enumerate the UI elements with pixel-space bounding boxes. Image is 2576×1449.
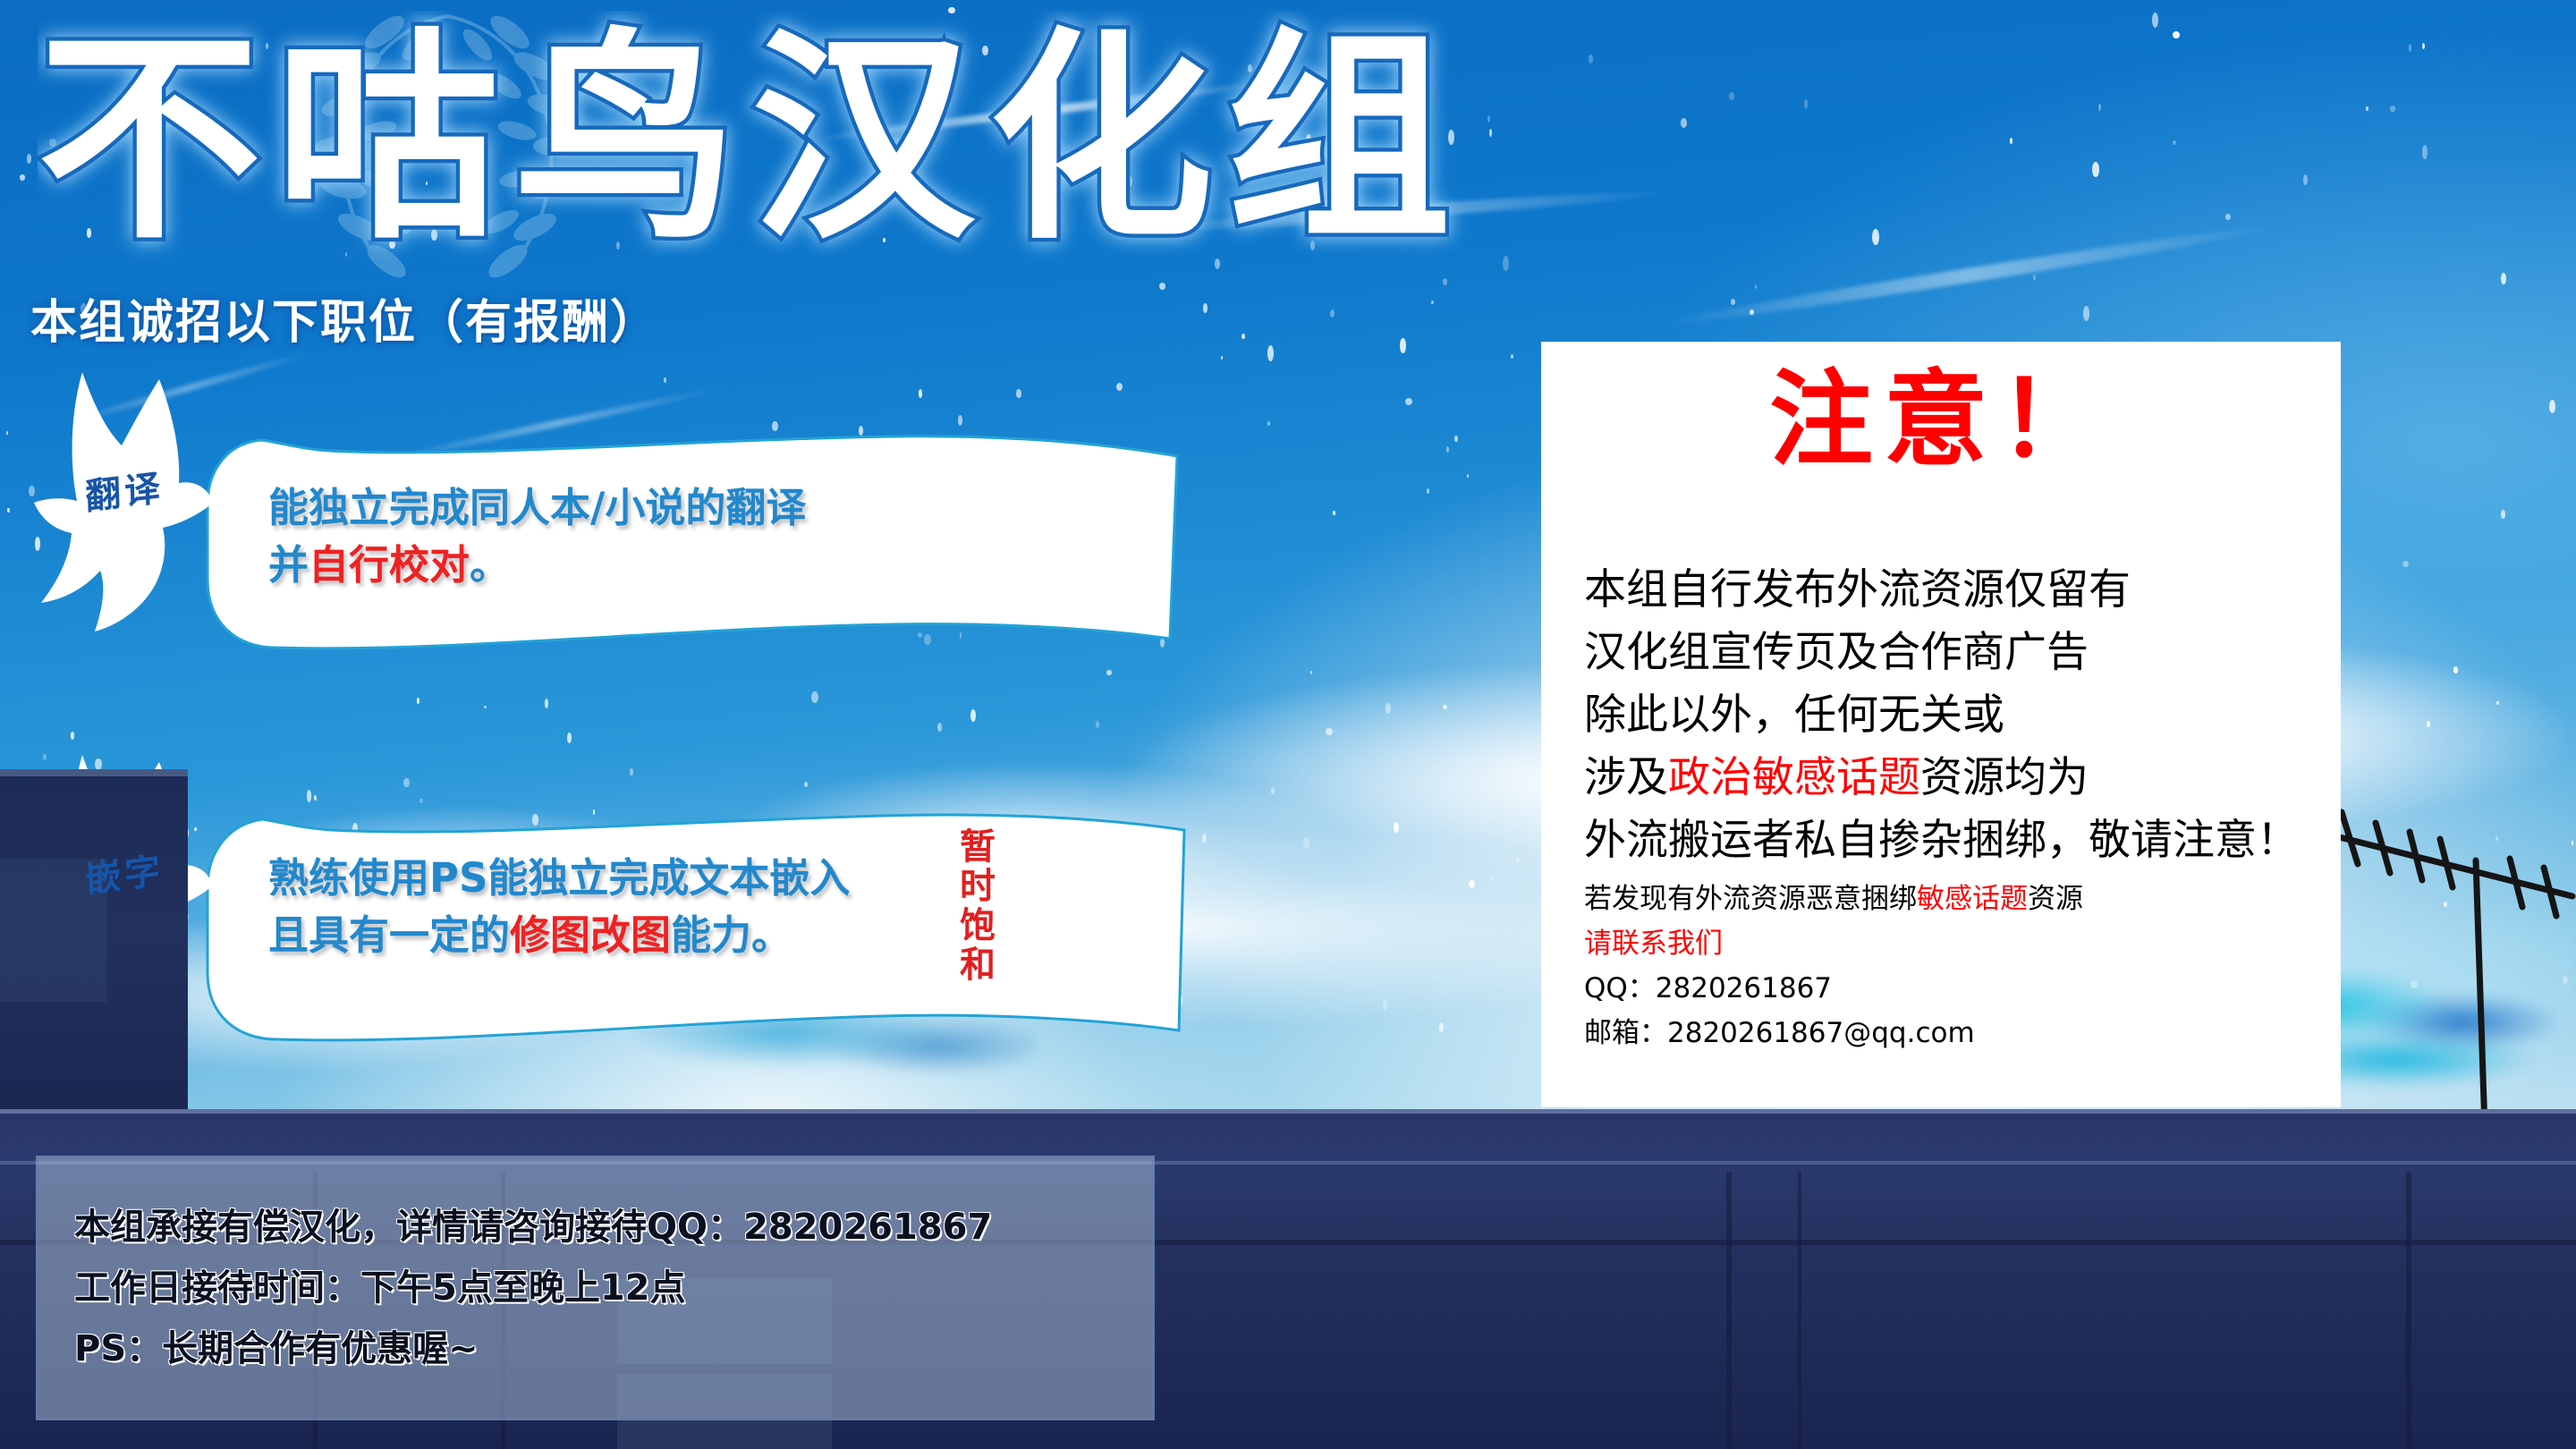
text-segment: 并 [268,541,309,589]
role-line: 并自行校对。 [268,537,806,594]
roof-edge-line-top [0,1109,2576,1114]
notice-big-line: 外流搬运者私自掺杂捆绑，敬请注意！ [1584,819,2299,861]
role-text-translator: 能独立完成同人本/小说的翻译 并自行校对。 [268,479,806,594]
notice-small-line: 请联系我们 [1584,930,1723,958]
text-segment: 修图改图 [510,911,671,959]
wall-seam-3 [2406,1172,2411,1449]
text-segment: 能独立完成同人本/小说的翻译 [268,484,806,531]
text-segment: 自行校对 [309,541,470,589]
notice-big-line: 汉化组宣传页及合作商广告 [1584,631,2089,674]
notice-big-line: 涉及政治敏感话题资源均为 [1584,757,2089,799]
notice-big-line: 本组自行发布外流资源仅留有 [1584,569,2131,611]
text-segment: 且具有一定的 [268,911,510,959]
text-segment: 若发现有外流资源恶意捆绑 [1584,883,1917,915]
contact-line-2: 工作日接待时间：下午5点至晚上12点 [74,1258,686,1310]
left-window [0,859,107,1002]
role-line: 且具有一定的修图改图能力。 [268,907,850,964]
text-segment: QQ：2820261867 [1584,972,1832,1004]
contact-line-1: 本组承接有偿汉化，详情请咨询接待QQ：2820261867 [74,1198,992,1250]
text-segment: 敏感话题 [1917,883,2028,915]
text-segment: 除此以外，任何无关或 [1584,691,2004,740]
text-segment: 政治敏感话题 [1668,753,1920,802]
notice-big-line: 除此以外，任何无关或 [1584,694,2004,736]
text-segment: 资源 [2028,883,2083,915]
contact-line-3: PS：长期合作有优惠喔~ [74,1319,479,1371]
text-segment: 汉化组宣传页及合作商广告 [1584,628,2089,677]
role-text-typesetter: 熟练使用PS能独立完成文本嵌入 且具有一定的修图改图能力。 [268,850,850,964]
text-segment: 本组自行发布外流资源仅留有 [1584,565,2131,614]
text-segment: 熟练使用PS能独立完成文本嵌入 [268,854,850,902]
text-segment: 请联系我们 [1584,928,1723,960]
text-segment: 资源均为 [1920,753,2089,802]
notice-panel: 注意！ 本组自行发布外流资源仅留有 汉化组宣传页及合作商广告 除此以外，任何无关… [1541,342,2341,1107]
notice-small-line: 若发现有外流资源恶意捆绑敏感话题资源 [1584,885,2083,913]
notice-contact-email: 邮箱：2820261867@qq.com [1584,1020,1975,1047]
role-line: 熟练使用PS能独立完成文本嵌入 [268,850,850,907]
role-line: 能独立完成同人本/小说的翻译 [268,479,806,537]
notice-contact-qq: QQ：2820261867 [1584,975,1832,1003]
text-segment: 邮箱：2820261867@qq.com [1584,1017,1975,1049]
text-segment: 。 [470,541,510,589]
contact-info-panel: 本组承接有偿汉化，详情请咨询接待QQ：2820261867 工作日接待时间：下午… [36,1156,1155,1420]
promo-poster: 不咕鸟汉化组 本组诚招以下职位（有报酬） 能独立完成同人本/小说的翻译 并自行校… [0,0,2576,1449]
text-segment: 涉及 [1584,753,1668,802]
text-segment: 外流搬运者私自掺杂捆绑，敬请注意！ [1584,816,2299,865]
notice-title: 注意！ [1541,369,2341,472]
wall-seam-1 [1726,1172,1732,1449]
text-segment: 能力。 [671,911,792,959]
page-subtitle: 本组诚招以下职位（有报酬） [30,284,658,352]
role-status-typesetter: 暂时饱和 [941,827,995,985]
wall-seam-2 [1798,1172,1801,1449]
